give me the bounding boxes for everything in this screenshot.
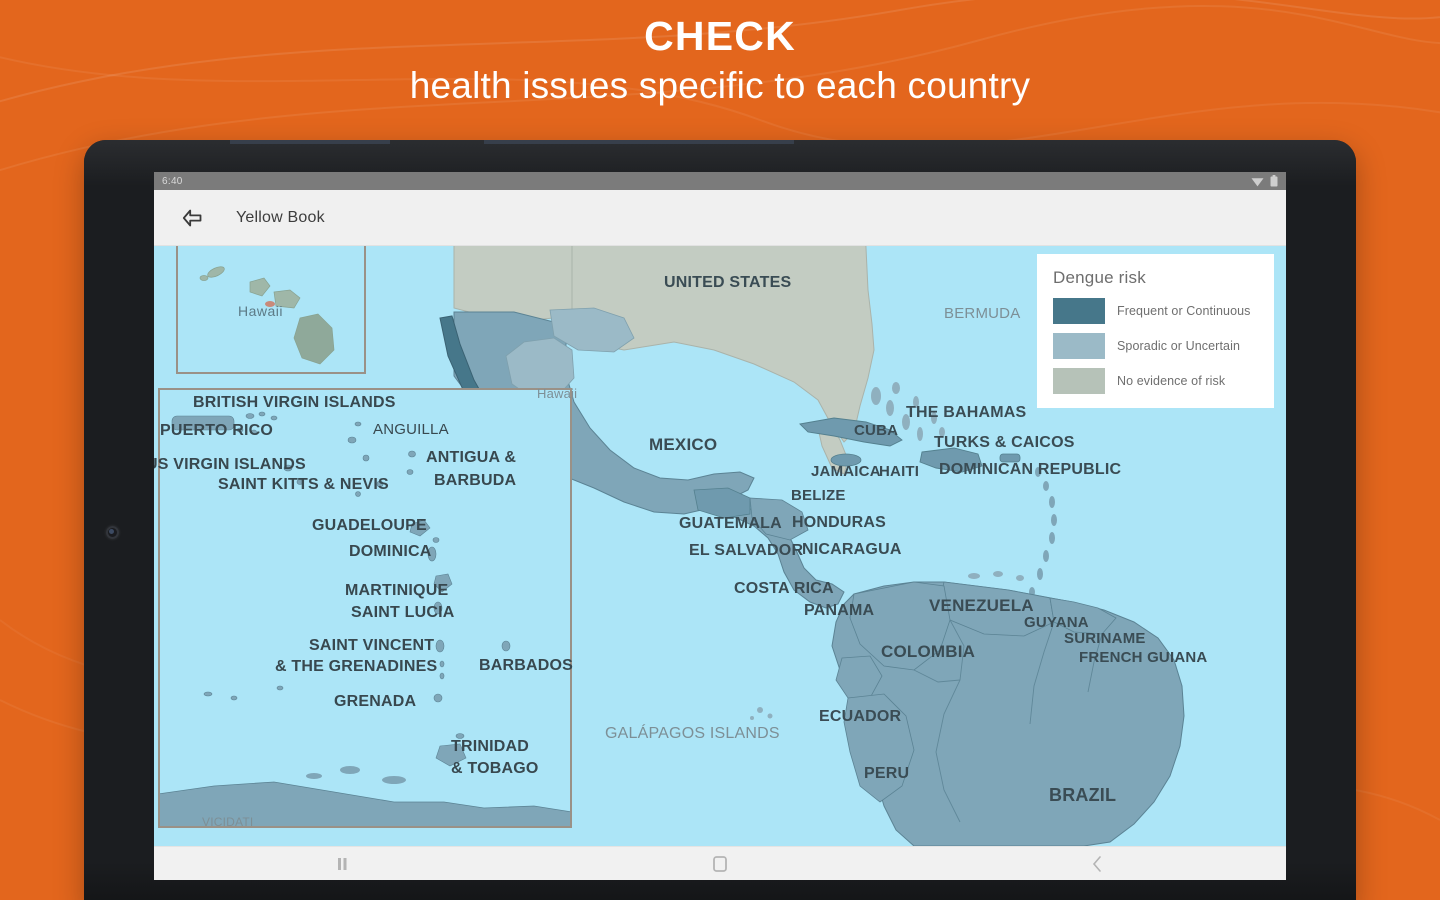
inset-label-trinidad[interactable]: TRINIDAD (451, 739, 529, 756)
map-label-peru[interactable]: PERU (864, 766, 909, 783)
map-label-french-guiana[interactable]: FRENCH GUIANA (1079, 650, 1207, 666)
recents-icon (337, 857, 349, 871)
inset-label-saint-lucia[interactable]: SAINT LUCIA (351, 605, 455, 622)
legend-swatch-2 (1053, 368, 1105, 394)
inset-label-grenada[interactable]: GRENADA (334, 694, 416, 711)
map-label-gal-pagos-islands[interactable]: GALÁPAGOS ISLANDS (605, 726, 780, 743)
recents-button[interactable] (154, 857, 531, 871)
map-label-brazil[interactable]: BRAZIL (1049, 786, 1116, 805)
legend-item-1: Sporadic or Uncertain (1053, 333, 1258, 359)
inset-label-guadeloupe[interactable]: GUADELOUPE (312, 518, 427, 535)
map-label-bermuda[interactable]: BERMUDA (944, 306, 1020, 322)
inset-label-saint-vincent[interactable]: SAINT VINCENT (309, 638, 434, 655)
inset-label-antigua[interactable]: ANTIGUA & (426, 450, 516, 467)
home-button[interactable] (531, 856, 908, 872)
map-label-the-bahamas[interactable]: THE BAHAMAS (906, 405, 1026, 422)
map-label-honduras[interactable]: HONDURAS (792, 515, 886, 532)
inset-label-dominica[interactable]: DOMINICA (349, 544, 431, 561)
front-camera-icon (106, 526, 119, 539)
map-label-costa-rica[interactable]: COSTA RICA (734, 581, 834, 598)
map-label-nicaragua[interactable]: NICARAGUA (802, 542, 902, 559)
inset-label-tobago[interactable]: & TOBAGO (451, 761, 539, 778)
map-label-suriname[interactable]: SURINAME (1064, 631, 1146, 647)
legend-title: Dengue risk (1053, 268, 1258, 288)
legend-label-0: Frequent or Continuous (1117, 304, 1251, 318)
back-nav-button[interactable] (909, 856, 1286, 872)
svg-text:Hawaii: Hawaii (238, 303, 283, 319)
map-label-united-states[interactable]: UNITED STATES (664, 275, 791, 292)
app-bar-title: Yellow Book (236, 209, 325, 227)
map-label-panama[interactable]: PANAMA (804, 603, 874, 620)
home-square-icon (713, 856, 727, 872)
promo-subtitle: health issues specific to each country (0, 64, 1440, 108)
promo-title: CHECK (0, 14, 1440, 58)
inset-label-barbuda[interactable]: BARBUDA (434, 473, 516, 490)
map-label-guatemala[interactable]: GUATEMALA (679, 516, 782, 533)
promo-copy: CHECK health issues specific to each cou… (0, 14, 1440, 109)
legend-swatch-1 (1053, 333, 1105, 359)
legend-items: Frequent or ContinuousSporadic or Uncert… (1053, 298, 1258, 394)
inset-label-british-virgin-islands[interactable]: BRITISH VIRGIN ISLANDS (193, 395, 396, 412)
status-bar-icons (1251, 175, 1278, 187)
map-label-colombia[interactable]: COLOMBIA (881, 643, 975, 661)
inset-label-us-virgin-islands[interactable]: US VIRGIN ISLANDS (154, 457, 306, 474)
map-label-cuba[interactable]: CUBA (854, 423, 898, 439)
android-nav-bar (154, 846, 1286, 880)
tablet-device-frame: 6:40 Yellow Book (84, 140, 1356, 900)
map-label-guyana[interactable]: GUYANA (1024, 615, 1089, 631)
map-legend: Dengue risk Frequent or ContinuousSporad… (1037, 254, 1274, 408)
inset-label-anguilla[interactable]: ANGUILLA (373, 422, 449, 438)
tablet-bezel: 6:40 Yellow Book (84, 140, 1356, 900)
inset-label-the-grenadines[interactable]: & THE GRENADINES (275, 659, 437, 676)
back-arrow-glyph (182, 209, 202, 227)
legend-label-2: No evidence of risk (1117, 374, 1225, 388)
map-label-jamaica[interactable]: JAMAICA (811, 464, 881, 480)
inset-label-saint-kitts-nevis[interactable]: SAINT KITTS & NEVIS (218, 477, 389, 494)
map-label-mexico[interactable]: MEXICO (649, 436, 717, 454)
dengue-risk-map[interactable]: Hawaii (154, 246, 1286, 846)
inset-label-martinique[interactable]: MARTINIQUE (345, 583, 448, 600)
map-label-belize[interactable]: BELIZE (791, 488, 846, 504)
map-label-turks-caicos[interactable]: TURKS & CAICOS (934, 435, 1075, 452)
legend-swatch-0 (1053, 298, 1105, 324)
battery-icon (1270, 175, 1278, 187)
device-screen: 6:40 Yellow Book (154, 172, 1286, 880)
map-callout-hawaii[interactable]: Hawaii (537, 387, 577, 401)
antenna-band-right (484, 140, 794, 144)
chevron-left-icon (1092, 856, 1102, 872)
map-callout-vicidati[interactable]: VICIDATI (202, 816, 253, 829)
antenna-band-left (230, 140, 390, 144)
app-bar: Yellow Book (154, 190, 1286, 246)
legend-item-2: No evidence of risk (1053, 368, 1258, 394)
legend-item-0: Frequent or Continuous (1053, 298, 1258, 324)
inset-label-puerto-rico[interactable]: PUERTO RICO (160, 423, 273, 440)
map-label-haiti[interactable]: HAITI (879, 464, 919, 480)
wifi-icon (1251, 176, 1264, 187)
status-bar-clock: 6:40 (162, 176, 183, 187)
inset-label-barbados[interactable]: BARBADOS (479, 658, 573, 675)
map-label-ecuador[interactable]: ECUADOR (819, 709, 901, 726)
map-label-dominican-republic[interactable]: DOMINICAN REPUBLIC (939, 462, 1121, 479)
map-label-venezuela[interactable]: VENEZUELA (929, 597, 1034, 615)
back-arrow-icon[interactable] (172, 198, 212, 238)
map-label-el-salvador[interactable]: EL SALVADOR (689, 543, 803, 560)
status-bar: 6:40 (154, 172, 1286, 190)
legend-label-1: Sporadic or Uncertain (1117, 339, 1240, 353)
